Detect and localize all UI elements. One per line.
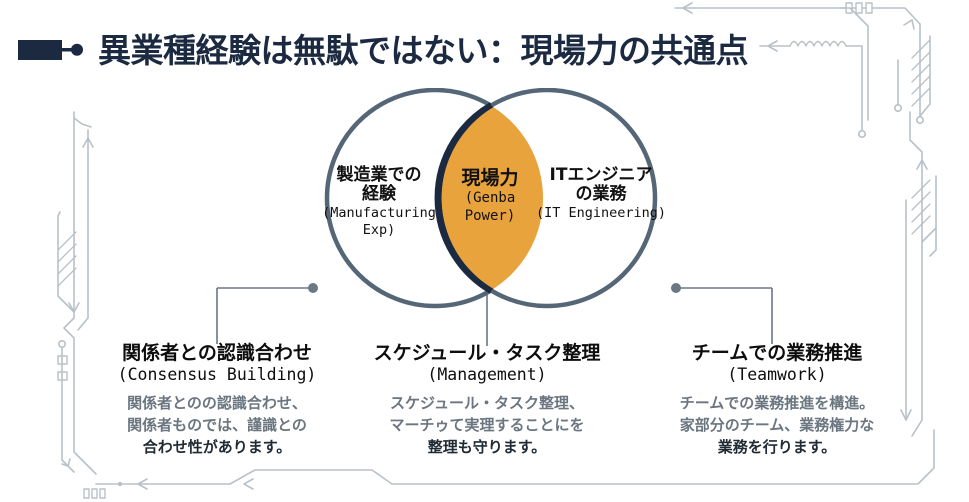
column-subtitle: (Management) — [352, 365, 622, 385]
column-body-line: スケジュール・タスク整理、 — [352, 393, 622, 415]
column-body-line: マーチゥて実理することにを — [352, 415, 622, 437]
column-body-line: 関係者とのの認識合わせ、 — [72, 393, 362, 415]
column-teamwork: チームでの業務推進 (Teamwork) チームでの業務推進を構進。 家部分のチ… — [632, 342, 922, 458]
venn-diagram: 製造業での 経験 (Manufacturing Exp) 現場力 (Genba … — [295, 88, 685, 338]
column-subtitle: (Teamwork) — [632, 365, 922, 385]
column-management: スケジュール・タスク整理 (Management) スケジュール・タスク整理、 … — [352, 342, 622, 458]
column-title: 関係者との認識合わせ — [72, 342, 362, 364]
column-body-line: 家部分のチーム、業務権力な — [632, 415, 922, 437]
column-title: スケジュール・タスク整理 — [352, 342, 622, 364]
venn-shapes — [295, 88, 685, 338]
column-body-line: チームでの業務推進を構進。 — [632, 393, 922, 415]
column-body-line: 業務を行ります。 — [632, 437, 922, 459]
slide-canvas: 異業種経験は無駄ではない：現場力の共通点 製造業での 経験 (Manufactu… — [0, 0, 969, 502]
square-bullet-icon — [18, 36, 84, 64]
column-body: チームでの業務推進を構進。 家部分のチーム、業務権力な 業務を行ります。 — [632, 393, 922, 458]
column-body-line: 関係者ものでは、謹識との — [72, 415, 362, 437]
page-title-text: 異業種経験は無駄ではない：現場力の共通点 — [98, 34, 748, 67]
column-consensus: 関係者との認識合わせ (Consensus Building) 関係者とのの認識… — [72, 342, 362, 458]
page-title: 異業種経験は無駄ではない：現場力の共通点 — [18, 24, 748, 76]
column-title: チームでの業務推進 — [632, 342, 922, 364]
column-body: スケジュール・タスク整理、 マーチゥて実理することにを 整理も守ります。 — [352, 393, 622, 458]
column-body-line: 合わせ性があります。 — [72, 437, 362, 459]
column-subtitle: (Consensus Building) — [72, 365, 362, 385]
column-body: 関係者とのの認識合わせ、 関係者ものでは、謹識との 合わせ性があります。 — [72, 393, 362, 458]
column-body-line: 整理も守ります。 — [352, 437, 622, 459]
